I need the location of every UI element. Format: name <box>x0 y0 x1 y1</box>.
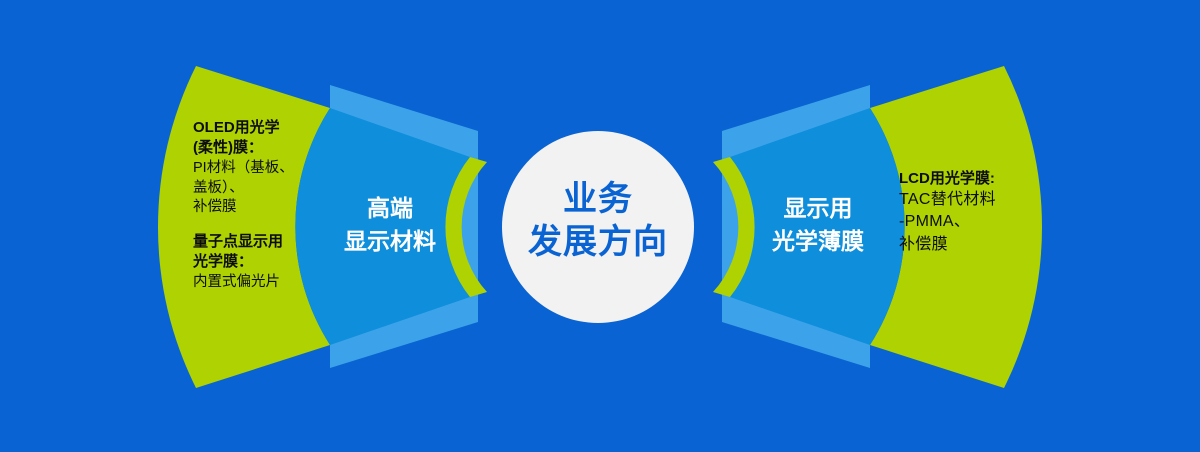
left-detail-1-body-line3: 补偿膜 <box>193 198 343 218</box>
right-fan-label-line2: 光学薄膜 <box>748 225 888 258</box>
diagram-canvas: OLED用光学 (柔性)膜： PI材料（基板、 盖板）、 补偿膜 量子点显示用 … <box>0 0 1200 452</box>
left-detail-2-heading-line2: 光学膜： <box>193 252 343 272</box>
right-detail-1-body-line2: -PMMA、 <box>899 211 1069 233</box>
left-fan-label-line1: 高端 <box>322 192 458 225</box>
left-detail-2-body-line1: 内置式偏光片 <box>193 273 343 293</box>
right-detail-1-body-line3: 补偿膜 <box>899 234 1069 256</box>
left-detail-group-2: 量子点显示用 光学膜： 内置式偏光片 <box>193 232 343 293</box>
left-fan-label: 高端 显示材料 <box>322 192 458 257</box>
right-fan-label: 显示用 光学薄膜 <box>748 192 888 257</box>
left-detail-1-heading-line2: (柔性)膜： <box>193 138 343 158</box>
right-detail-1-body-line1: TAC替代材料 <box>899 189 1069 211</box>
left-detail-2-heading-line1: 量子点显示用 <box>193 232 343 252</box>
right-fan-label-line1: 显示用 <box>748 192 888 225</box>
right-detail-block: LCD用光学膜: TAC替代材料 -PMMA、 补偿膜 <box>899 168 1069 256</box>
left-detail-1-body-line1: PI材料（基板、 <box>193 159 343 179</box>
left-detail-block: OLED用光学 (柔性)膜： PI材料（基板、 盖板）、 补偿膜 量子点显示用 … <box>193 118 343 292</box>
left-detail-1-body-line2: 盖板）、 <box>193 179 343 199</box>
right-detail-1-heading-line1: LCD用光学膜: <box>899 168 1069 189</box>
left-fan-label-line2: 显示材料 <box>322 225 458 258</box>
center-title-line2: 发展方向 <box>503 221 693 264</box>
center-title-line1: 业务 <box>503 178 693 221</box>
left-detail-group-1: OLED用光学 (柔性)膜： PI材料（基板、 盖板）、 补偿膜 <box>193 118 343 218</box>
center-title: 业务 发展方向 <box>503 178 693 263</box>
left-detail-1-heading-line1: OLED用光学 <box>193 118 343 138</box>
